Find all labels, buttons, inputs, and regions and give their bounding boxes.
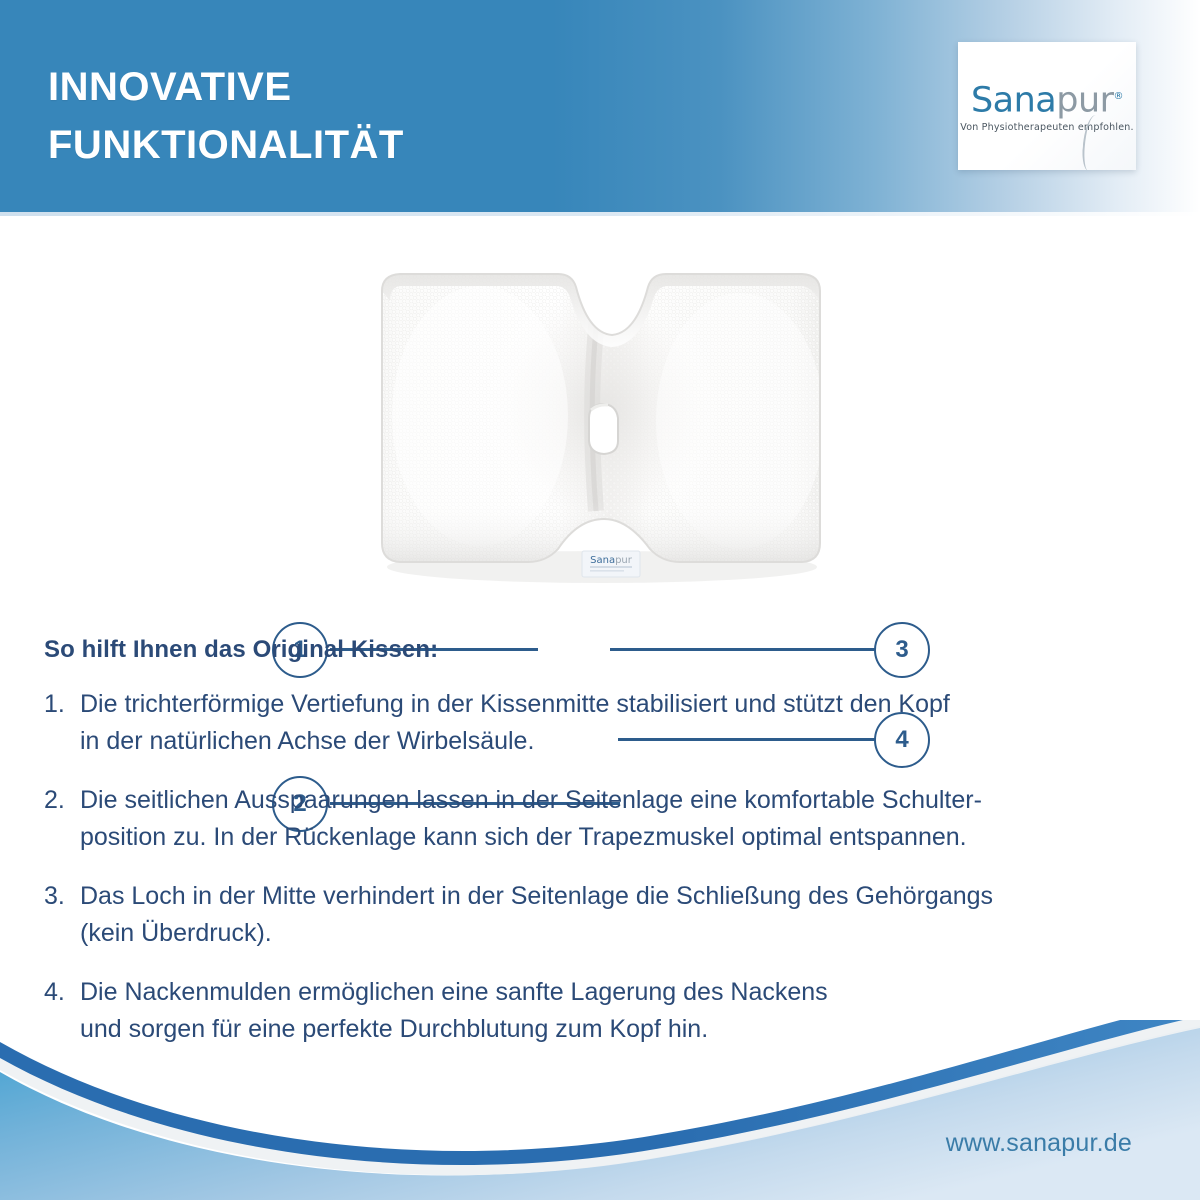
list-item: 3. Das Loch in der Mitte verhindert in d…	[44, 878, 1156, 952]
list-item-text: Die trichterförmige Vertiefung in der Ki…	[80, 686, 1156, 760]
product-diagram: Sanapur 1 2 3 4	[0, 216, 1200, 636]
benefits-section: So hilft Ihnen das Original Kissen: 1. D…	[44, 636, 1156, 1070]
benefits-heading: So hilft Ihnen das Original Kissen:	[44, 636, 1156, 664]
list-item-text: Das Loch in der Mitte verhindert in der …	[80, 878, 1156, 952]
brand-logo-wordmark: Sanapur®	[971, 79, 1123, 119]
footer-wave-graphic	[0, 1020, 1200, 1200]
list-item: 1. Die trichterförmige Vertiefung in der…	[44, 686, 1156, 760]
pillow-image: Sanapur	[350, 261, 850, 606]
brand-logo-inner: Sanapur® Von Physiotherapeuten empfohlen…	[958, 42, 1136, 170]
page-title: INNOVATIVE FUNKTIONALITÄT	[48, 58, 404, 174]
brand-logo-tagline: Von Physiotherapeuten empfohlen.	[960, 122, 1133, 133]
brand-logo-name-part-2: pur	[1056, 80, 1113, 120]
brand-logo[interactable]: Sanapur® Von Physiotherapeuten empfohlen…	[958, 42, 1136, 170]
list-item-number: 1.	[44, 686, 80, 723]
list-item-number: 4.	[44, 974, 80, 1011]
svg-text:Sanapur: Sanapur	[590, 555, 633, 566]
pillow-illustration: Sanapur	[350, 261, 850, 606]
list-item: 2. Die seitlichen Ausspaarungen lassen i…	[44, 782, 1156, 856]
footer-wave: www.sanapur.de	[0, 1020, 1200, 1200]
pillow-center-hole	[589, 404, 618, 454]
product-tag: Sanapur	[582, 551, 640, 577]
registered-trademark-icon: ®	[1114, 91, 1124, 102]
list-item-text: Die seitlichen Ausspaarungen lassen in d…	[80, 782, 1156, 856]
list-item-number: 3.	[44, 878, 80, 915]
brand-logo-name-part-1: Sana	[971, 80, 1056, 120]
website-url[interactable]: www.sanapur.de	[946, 1129, 1132, 1158]
poster-page: INNOVATIVE FUNKTIONALITÄT Sanapur® Von P…	[0, 0, 1200, 1200]
list-item-number: 2.	[44, 782, 80, 819]
